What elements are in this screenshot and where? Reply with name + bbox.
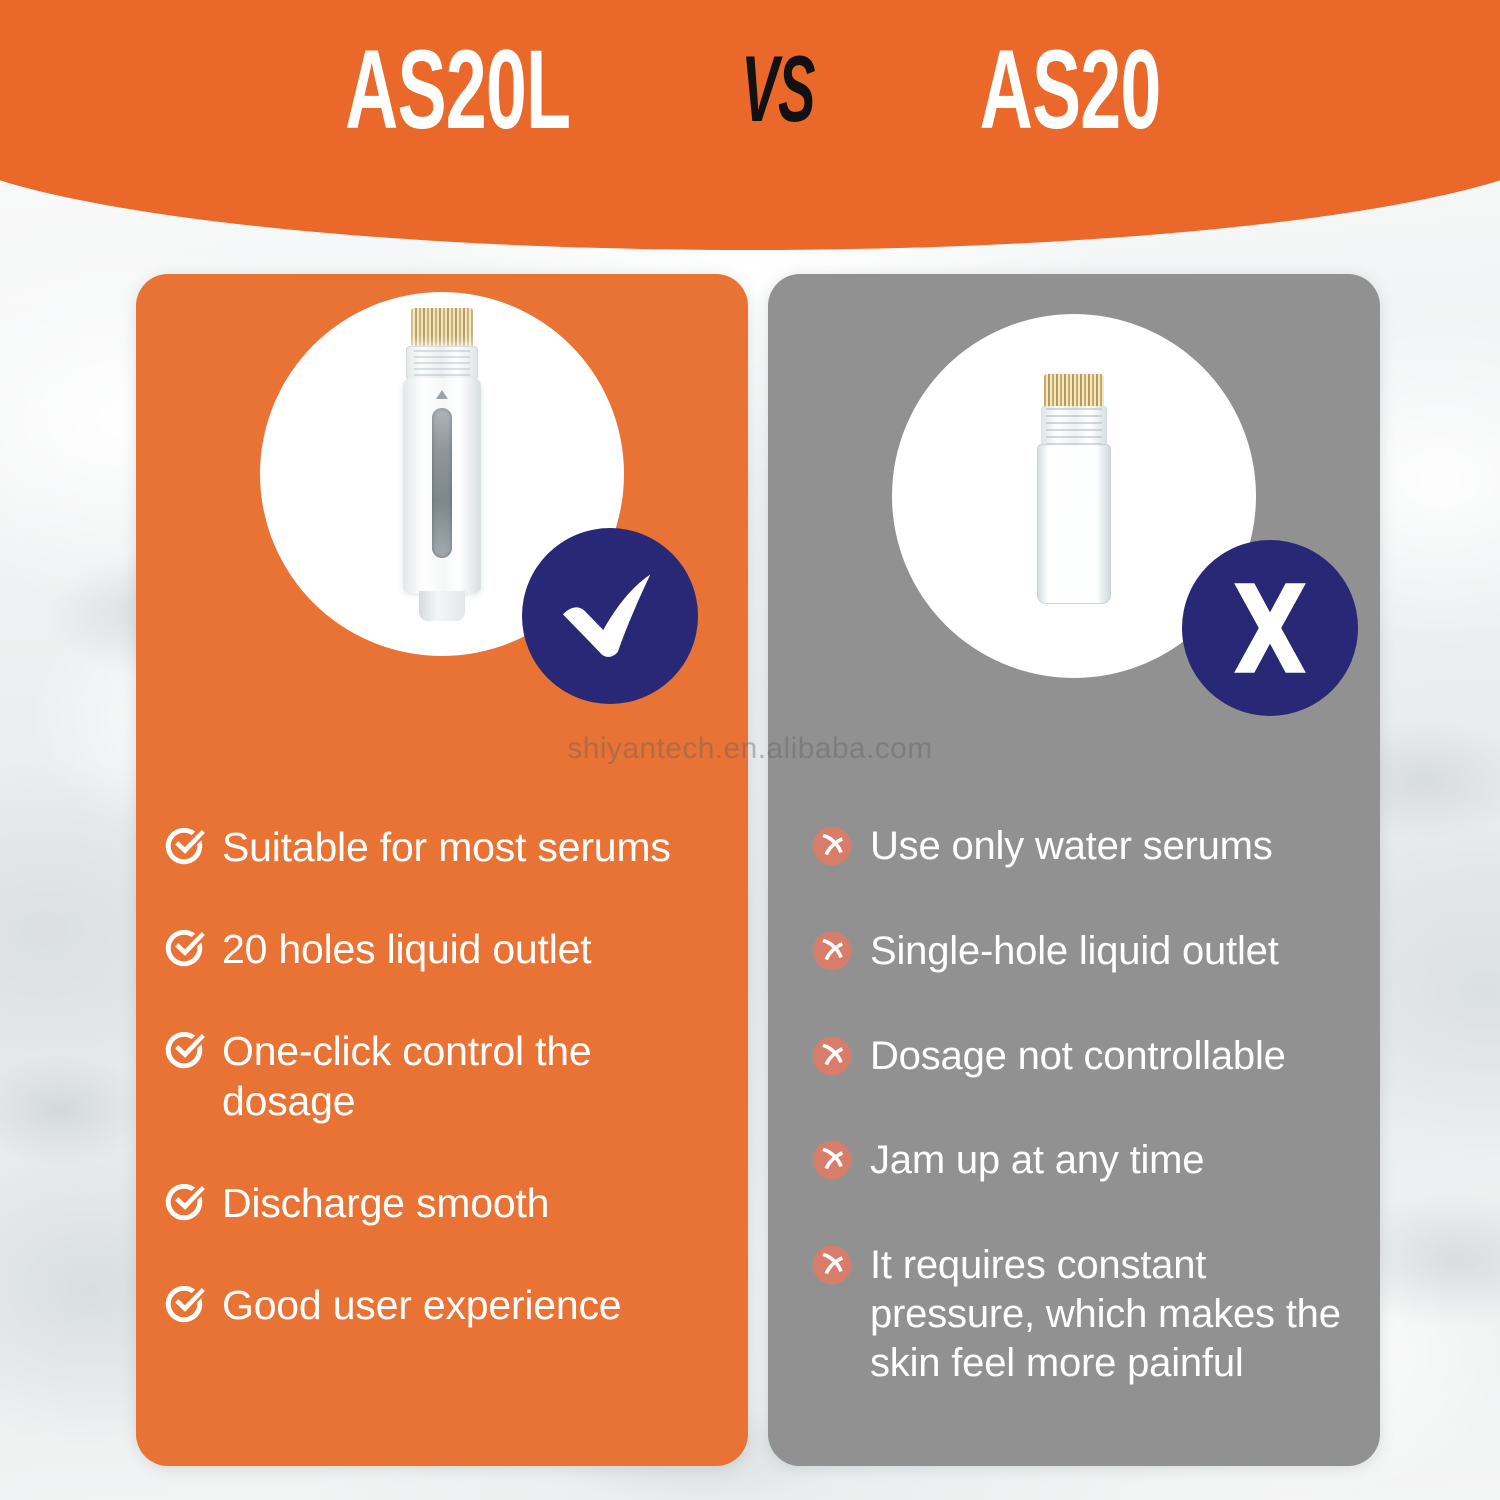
list-item: Use only water serums	[810, 822, 1360, 871]
triangle-marker-icon	[436, 390, 448, 399]
verdict-badge-cross	[1182, 540, 1358, 716]
needle-head-icon	[411, 308, 473, 348]
check-circle-icon	[162, 1282, 206, 1326]
feature-label: It requires constant pressure, which mak…	[870, 1241, 1360, 1387]
feature-label: Good user experience	[222, 1280, 621, 1330]
feature-list-right: Use only water serums Single-hole liquid…	[810, 822, 1360, 1444]
feature-label: Discharge smooth	[222, 1178, 549, 1228]
list-item: 20 holes liquid outlet	[162, 924, 730, 974]
list-item: Jam up at any time	[810, 1136, 1360, 1185]
header-band: AS20L VS AS20	[0, 0, 1500, 250]
check-circle-icon	[162, 926, 206, 970]
feature-label: Single-hole liquid outlet	[870, 927, 1279, 976]
list-item: Discharge smooth	[162, 1178, 730, 1228]
check-circle-icon	[162, 1180, 206, 1224]
feature-label: Suitable for most serums	[222, 822, 671, 872]
cross-circle-icon	[810, 929, 854, 973]
cartridge-body	[403, 378, 481, 593]
check-mark-icon	[554, 560, 666, 672]
panel-as20l: Suitable for most serums 20 holes liquid…	[136, 274, 748, 1466]
cross-circle-icon	[810, 1138, 854, 1182]
cartridge-base	[419, 591, 465, 621]
list-item: Suitable for most serums	[162, 822, 730, 872]
feature-label: Dosage not controllable	[870, 1032, 1286, 1081]
list-item: Single-hole liquid outlet	[810, 927, 1360, 976]
list-item: It requires constant pressure, which mak…	[810, 1241, 1360, 1387]
comparison-infographic: AS20L VS AS20	[0, 0, 1500, 1500]
feature-label: Jam up at any time	[870, 1136, 1204, 1185]
feature-label: One-click control the dosage	[222, 1026, 730, 1126]
header-right-model-title: AS20	[979, 34, 1160, 146]
header-vs-label: VS	[741, 43, 814, 137]
cross-circle-icon	[810, 824, 854, 868]
panel-as20: Use only water serums Single-hole liquid…	[768, 274, 1380, 1466]
list-item: One-click control the dosage	[162, 1026, 730, 1126]
dosage-window	[432, 408, 452, 558]
check-circle-icon	[162, 824, 206, 868]
cross-circle-icon	[810, 1243, 854, 1287]
white-cartridge-product-image	[399, 308, 485, 638]
threaded-collar	[406, 346, 478, 380]
list-item: Good user experience	[162, 1280, 730, 1330]
header-titles: AS20L VS AS20	[0, 0, 1500, 180]
threaded-neck	[1041, 406, 1107, 446]
cross-mark-icon	[1214, 572, 1326, 684]
clear-tube-body	[1037, 444, 1111, 604]
check-circle-icon	[162, 1028, 206, 1072]
feature-label: Use only water serums	[870, 822, 1273, 871]
needle-head-icon	[1044, 374, 1104, 408]
header-left-model-title: AS20L	[345, 34, 570, 146]
list-item: Dosage not controllable	[810, 1032, 1360, 1081]
cross-circle-icon	[810, 1034, 854, 1078]
clear-vial-product-image	[1032, 374, 1116, 614]
feature-list-left: Suitable for most serums 20 holes liquid…	[162, 822, 730, 1330]
feature-label: 20 holes liquid outlet	[222, 924, 591, 974]
verdict-badge-check	[522, 528, 698, 704]
